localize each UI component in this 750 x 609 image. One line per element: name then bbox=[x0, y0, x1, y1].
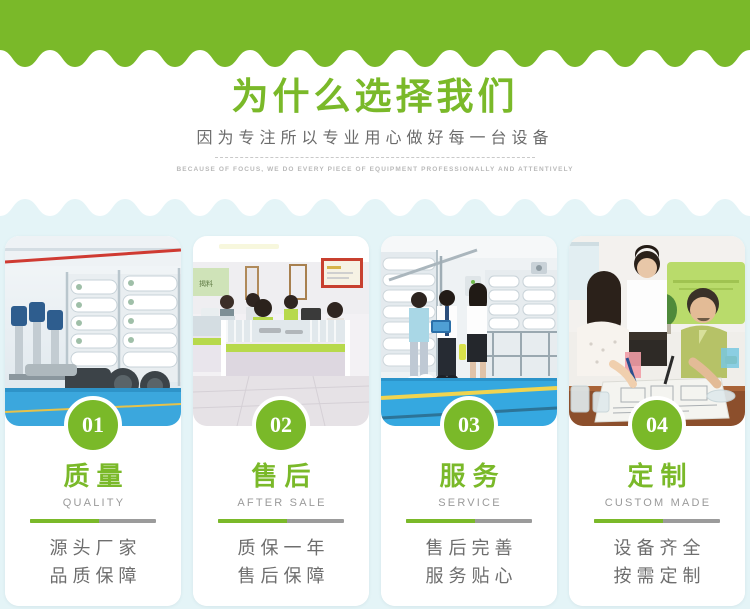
card-title-en: QUALITY bbox=[5, 496, 181, 510]
svg-text:揭料: 揭料 bbox=[199, 279, 213, 288]
card-desc-line1: 源头厂家 bbox=[5, 534, 181, 562]
page-subtitle: 因为专注所以专业用心做好每一台设备 bbox=[0, 126, 750, 152]
card-body: 03 服务 SERVICE 售后完善 服务贴心 bbox=[381, 426, 557, 606]
card-desc-line2: 按需定制 bbox=[569, 562, 745, 590]
feature-card[interactable]: 揭料 bbox=[193, 236, 369, 606]
card-progress-divider bbox=[218, 519, 344, 523]
promo-page: 为什么选择我们 因为专注所以专业用心做好每一台设备 BECAUSE OF FOC… bbox=[0, 0, 750, 609]
card-progress-divider bbox=[594, 519, 720, 523]
card-title-cn: 售后 bbox=[193, 460, 369, 492]
feature-card[interactable]: 03 服务 SERVICE 售后完善 服务贴心 bbox=[381, 236, 557, 606]
feature-card[interactable]: 04 定制 CUSTOM MADE 设备齐全 按需定制 bbox=[569, 236, 745, 606]
green-scallop-edge bbox=[0, 46, 750, 68]
card-title-cn: 质量 bbox=[5, 460, 181, 492]
feature-card[interactable]: 01 质量 QUALITY 源头厂家 品质保障 bbox=[5, 236, 181, 606]
card-desc-line2: 售后保障 bbox=[193, 562, 369, 590]
card-title-cn: 定制 bbox=[569, 460, 745, 492]
card-desc-line1: 售后完善 bbox=[381, 534, 557, 562]
card-number-badge: 02 bbox=[252, 396, 310, 454]
heading-block: 为什么选择我们 因为专注所以专业用心做好每一台设备 BECAUSE OF FOC… bbox=[0, 74, 750, 175]
english-tagline: BECAUSE OF FOCUS, WE DO EVERY PIECE OF E… bbox=[0, 165, 750, 175]
card-number-badge: 04 bbox=[628, 396, 686, 454]
card-number-badge: 03 bbox=[440, 396, 498, 454]
top-green-banner bbox=[0, 0, 750, 46]
card-desc-line2: 品质保障 bbox=[5, 562, 181, 590]
card-number-badge: 01 bbox=[64, 396, 122, 454]
card-title-en: CUSTOM MADE bbox=[569, 496, 745, 510]
card-progress-divider bbox=[406, 519, 532, 523]
card-body: 01 质量 QUALITY 源头厂家 品质保障 bbox=[5, 426, 181, 606]
card-title-en: SERVICE bbox=[381, 496, 557, 510]
card-desc-line1: 质保一年 bbox=[193, 534, 369, 562]
card-title-en: AFTER SALE bbox=[193, 496, 369, 510]
card-body: 04 定制 CUSTOM MADE 设备齐全 按需定制 bbox=[569, 426, 745, 606]
blue-scallop-edge bbox=[0, 198, 750, 220]
page-title: 为什么选择我们 bbox=[0, 74, 750, 120]
feature-card-list: 01 质量 QUALITY 源头厂家 品质保障 bbox=[5, 236, 745, 606]
card-body: 02 售后 AFTER SALE 质保一年 售后保障 bbox=[193, 426, 369, 606]
card-progress-divider bbox=[30, 519, 156, 523]
card-title-cn: 服务 bbox=[381, 460, 557, 492]
card-desc-line2: 服务贴心 bbox=[381, 562, 557, 590]
card-desc-line1: 设备齐全 bbox=[569, 534, 745, 562]
dashed-divider bbox=[215, 157, 535, 158]
